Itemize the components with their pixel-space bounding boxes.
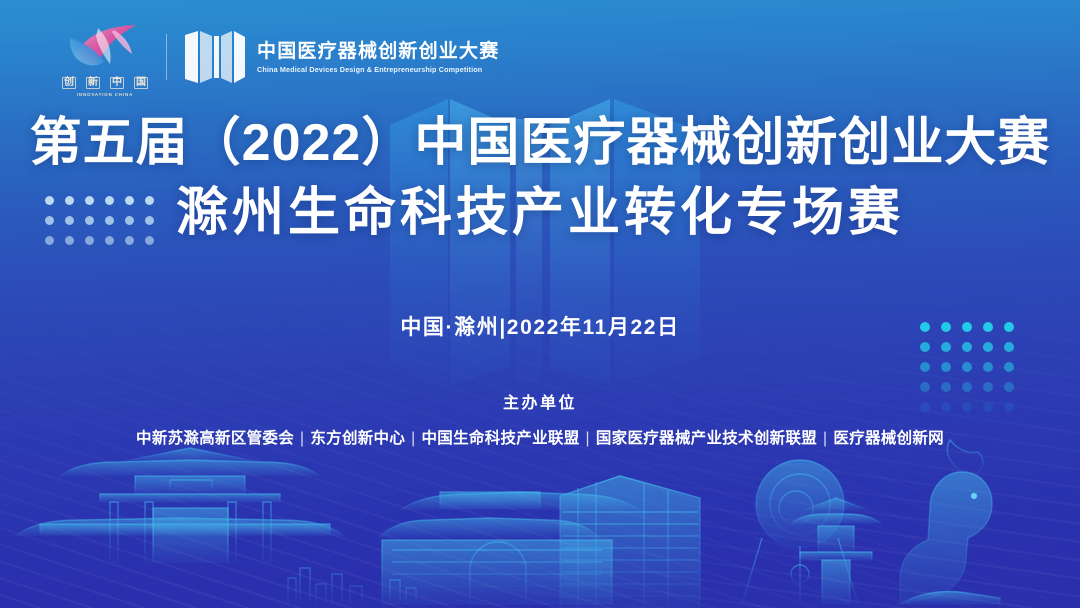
decor-dot: [1004, 362, 1014, 372]
decor-dot: [920, 342, 930, 352]
decor-dot: [1004, 342, 1014, 352]
poster-titles: 第五届（2022）中国医疗器械创新创业大赛 滁州生命科技产业转化专场赛: [0, 112, 1080, 244]
competition-logo: 中国医疗器械创新创业大赛 China Medical Devices Desig…: [185, 31, 499, 83]
organizers-label: 主办单位: [0, 389, 1080, 413]
header-divider: [166, 34, 167, 80]
highrise-tower-icon: [560, 476, 700, 608]
decor-dot: [983, 342, 993, 352]
innovation-china-characters: 创 新 中 国: [62, 77, 148, 89]
title-line-1: 第五届（2022）中国医疗器械创新创业大赛: [0, 112, 1080, 174]
competition-logo-en: China Medical Devices Design & Entrepren…: [257, 65, 499, 74]
city-skyline: [0, 428, 1080, 608]
header-logos: 创 新 中 国 INNOVATION CHINA 中国医疗器械创新创业大赛 Ch…: [62, 24, 499, 90]
logo-char-2: 中: [110, 77, 124, 89]
competition-logo-cn: 中国医疗器械创新创业大赛: [257, 41, 499, 62]
decor-dot: [941, 342, 951, 352]
merlion-statue-icon: [900, 440, 1000, 604]
innovation-china-logo: 创 新 中 国 INNOVATION CHINA: [62, 24, 148, 90]
logo-char-1: 新: [86, 77, 100, 89]
logo-char-3: 国: [134, 77, 148, 89]
logo-char-0: 创: [62, 77, 76, 89]
date-location-line: 中国·滁州|2022年11月22日: [0, 311, 1080, 341]
paifang-archway-icon: [16, 518, 344, 536]
chinese-pavilion-gate-icon: [60, 448, 320, 562]
innovation-china-en: INNOVATION CHINA: [62, 92, 148, 97]
title-line-2: 滁州生命科技产业转化专场赛: [0, 182, 1080, 244]
decor-dot: [983, 362, 993, 372]
bird-logo-icon: [68, 24, 142, 70]
decor-dot: [920, 362, 930, 372]
event-poster: 创 新 中 国 INNOVATION CHINA 中国医疗器械创新创业大赛 Ch…: [0, 0, 1080, 608]
decor-dot: [962, 342, 972, 352]
open-door-logo-icon: [185, 31, 245, 83]
decor-dot: [962, 362, 972, 372]
decor-dot: [941, 362, 951, 372]
